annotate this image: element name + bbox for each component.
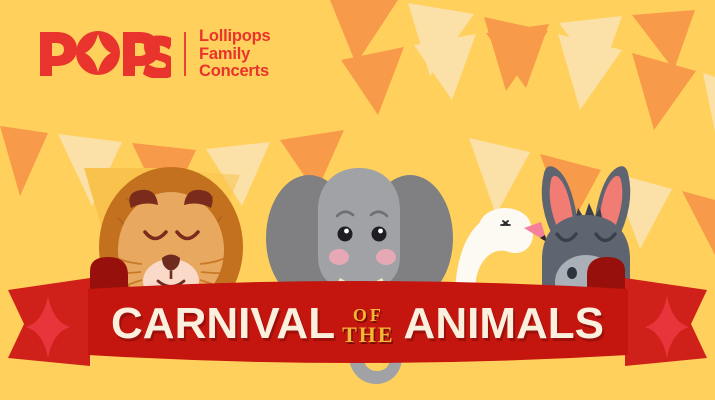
logo-tagline-line-3: Concerts: [199, 63, 271, 81]
elephant-eye-left: [338, 227, 353, 242]
elephant-cheek-right: [376, 249, 396, 265]
logo-tagline-line-2: Family: [199, 46, 271, 64]
swan-head-shape: [479, 208, 531, 246]
pops-logo[interactable]: Lollipops Family Concerts: [40, 28, 271, 81]
poster-canvas: Lollipops Family Concerts CARNIVAL OF TH…: [0, 0, 715, 400]
logo-divider: [184, 32, 186, 76]
pops-wordmark: [40, 30, 171, 78]
logo-tagline-line-1: Lollipops: [199, 28, 271, 46]
logo-tagline: Lollipops Family Concerts: [199, 28, 271, 81]
elephant-eye-right: [372, 227, 387, 242]
elephant-eye-highlight: [344, 229, 349, 234]
elephant-eye-highlight: [378, 229, 383, 234]
elephant-cheek-left: [329, 249, 349, 265]
donkey-nostril-left: [567, 267, 577, 279]
ribbon-main-band: [88, 281, 628, 363]
letter-p: [40, 32, 77, 76]
